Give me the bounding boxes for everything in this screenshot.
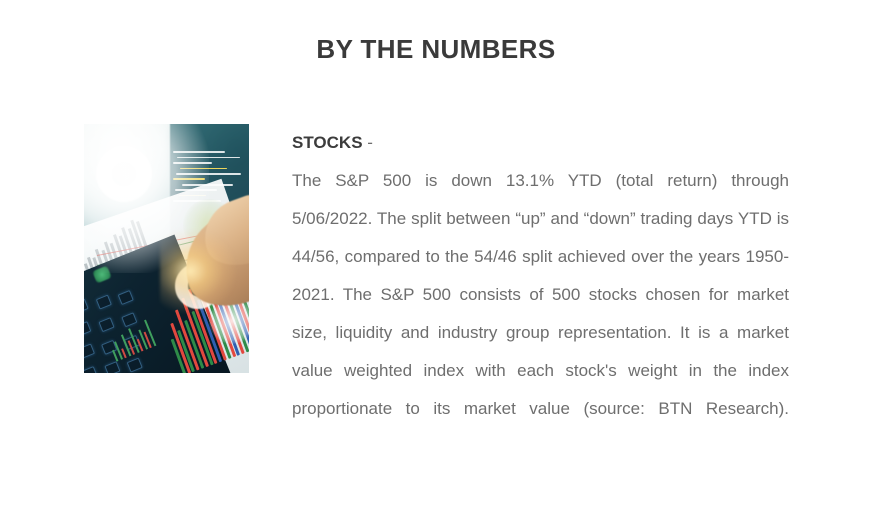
photo-highlight-wash xyxy=(84,124,209,273)
article-copy: STOCKS - The S&P 500 is down 13.1% YTD (… xyxy=(292,124,789,466)
page-title: BY THE NUMBERS xyxy=(0,31,872,67)
article-body: The S&P 500 is down 13.1% YTD (total ret… xyxy=(292,162,789,466)
article-lead-line: STOCKS - xyxy=(292,124,789,162)
figure-financial-charts-photo xyxy=(84,124,249,373)
newsletter-page: BY THE NUMBERS xyxy=(0,0,872,515)
article-lead-label: STOCKS xyxy=(292,133,363,152)
photo-canvas xyxy=(84,124,249,373)
article-lead-separator: - xyxy=(367,133,373,152)
